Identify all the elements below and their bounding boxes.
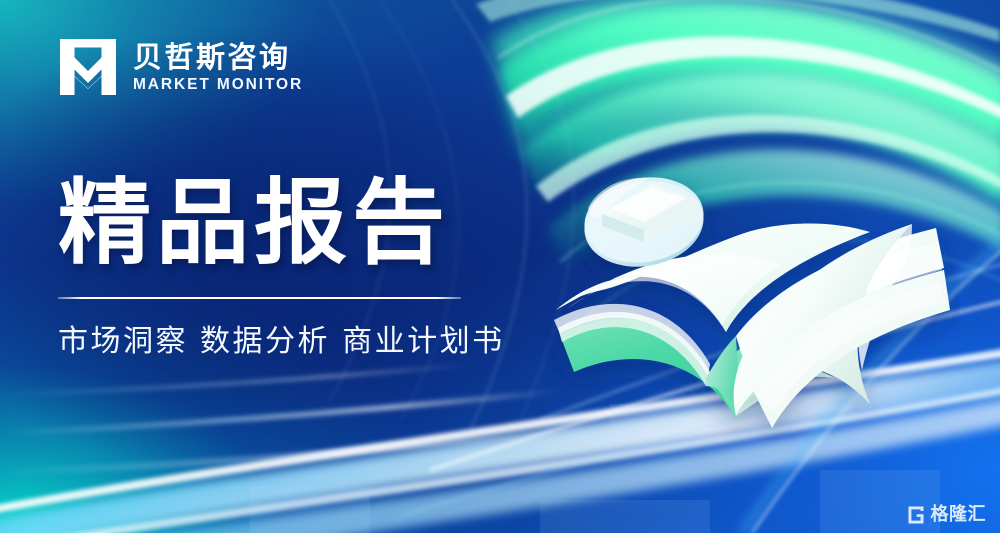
brand-text: 贝哲斯咨询 MARKET MONITOR: [133, 41, 303, 93]
watermark: 格隆汇: [906, 505, 987, 525]
brand-name-en: MARKET MONITOR: [133, 77, 303, 93]
brand-logo: 贝哲斯咨询 MARKET MONITOR: [57, 36, 303, 98]
page-subtitle: 市场洞察 数据分析 商业计划书: [58, 324, 528, 360]
headline-block: 精品报告 市场洞察 数据分析 商业计划书: [58, 174, 528, 360]
page-title: 精品报告: [58, 174, 528, 273]
open-book-illustration: [540, 150, 960, 440]
promo-banner: 贝哲斯咨询 MARKET MONITOR 精品报告 市场洞察 数据分析 商业计划…: [0, 0, 1000, 533]
gelonghui-g-logo-icon: [906, 505, 926, 525]
watermark-label: 格隆汇: [931, 506, 987, 524]
market-monitor-m-logo-icon: [57, 36, 119, 98]
title-divider: [58, 297, 461, 299]
brand-name-cn: 贝哲斯咨询: [133, 43, 303, 72]
